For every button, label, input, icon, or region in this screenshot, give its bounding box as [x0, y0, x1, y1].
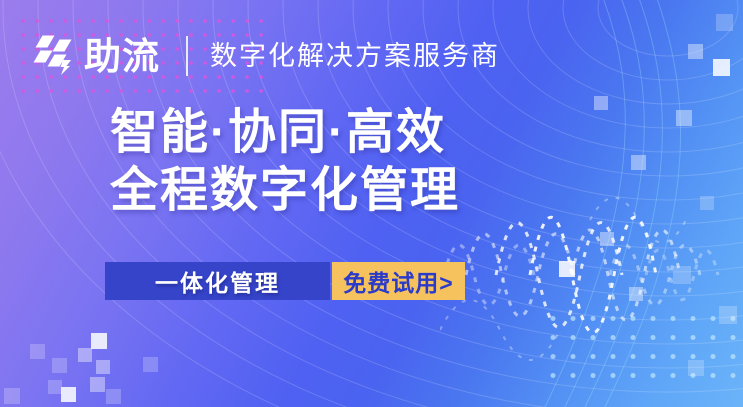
headline-block: 智能·协同·高效 全程数字化管理: [110, 104, 460, 220]
brand-logo-row[interactable]: 助流 数字化解决方案服务商: [30, 28, 500, 84]
cta-row: 一体化管理 免费试用>: [105, 262, 465, 300]
brand-tagline: 数字化解决方案服务商: [210, 43, 500, 70]
free-trial-button[interactable]: 免费试用>: [332, 262, 465, 300]
headline-line-1: 智能·协同·高效: [110, 104, 460, 162]
brand-name: 助流: [84, 38, 160, 75]
promo-banner: 助流 数字化解决方案服务商 智能·协同·高效 全程数字化管理 一体化管理 免费试…: [0, 0, 743, 407]
brand-divider: [186, 36, 188, 76]
zhuliu-lightning-logo-icon: [30, 33, 76, 79]
integrated-management-button[interactable]: 一体化管理: [105, 262, 330, 300]
headline-line-2: 全程数字化管理: [110, 162, 460, 220]
